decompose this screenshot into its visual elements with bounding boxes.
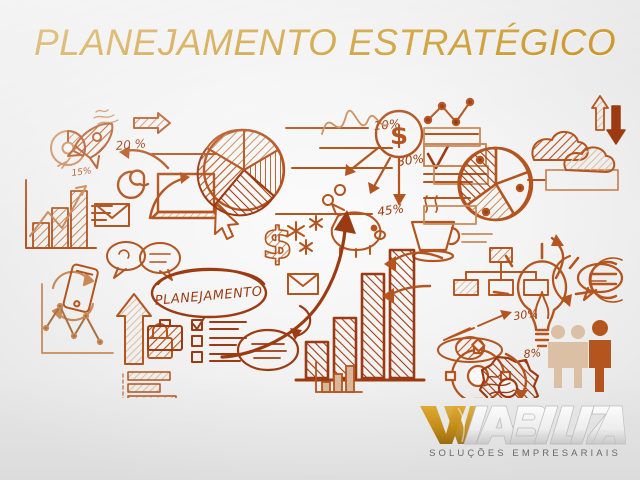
scribble-note-icon	[94, 110, 118, 124]
pie-chart-icon	[198, 130, 284, 216]
doodle-illustration: 15%	[0, 88, 640, 398]
sparkle-icon	[288, 216, 322, 254]
arrow-right-hatched-icon	[134, 113, 170, 133]
briefcase-icon	[148, 320, 182, 350]
svg-text:15%: 15%	[71, 166, 92, 179]
label-planejamento: PLANEJAMENTO	[154, 284, 263, 308]
line-chart-icon	[42, 284, 113, 353]
label-pct-20: 20 %	[115, 136, 147, 153]
poster-canvas: PLANEJAMENTO ESTRATÉGICO	[0, 0, 640, 480]
label-pct-gears: 8%	[523, 346, 542, 361]
svg-text:$: $	[390, 121, 408, 151]
chat-bubbles-icon	[107, 242, 180, 280]
logo-tagline: SOLUÇÕES EMPRESARIAIS	[424, 448, 626, 459]
dollar-sign-icon: $	[262, 218, 293, 269]
svg-text:$: $	[262, 218, 293, 269]
at-sign-icon	[118, 171, 148, 198]
label-pct-45: 45%	[376, 201, 404, 219]
people-group-icon	[548, 320, 611, 392]
horizontal-bars-icon	[123, 372, 176, 398]
bar-chart-icon	[26, 180, 112, 248]
arrow-check-icon	[428, 146, 448, 168]
cloud-sync-icon	[532, 96, 625, 172]
refresh-cycle-icon	[53, 272, 93, 320]
piggy-bank-icon	[323, 185, 385, 257]
envelope-icon	[288, 274, 318, 294]
logo-wordmark	[414, 398, 626, 448]
brand-logo: SOLUÇÕES EMPRESARIAIS	[414, 398, 626, 470]
ellipse-scribble-icon	[238, 306, 310, 370]
up-arrow-hatched-icon	[117, 294, 151, 364]
ellipse-pie-icon	[438, 310, 512, 362]
org-chart-icon	[454, 248, 548, 295]
page-title: PLANEJAMENTO ESTRATÉGICO	[34, 21, 616, 65]
small-bar-chart-bottom	[310, 358, 366, 398]
envelope-icon	[95, 204, 129, 226]
